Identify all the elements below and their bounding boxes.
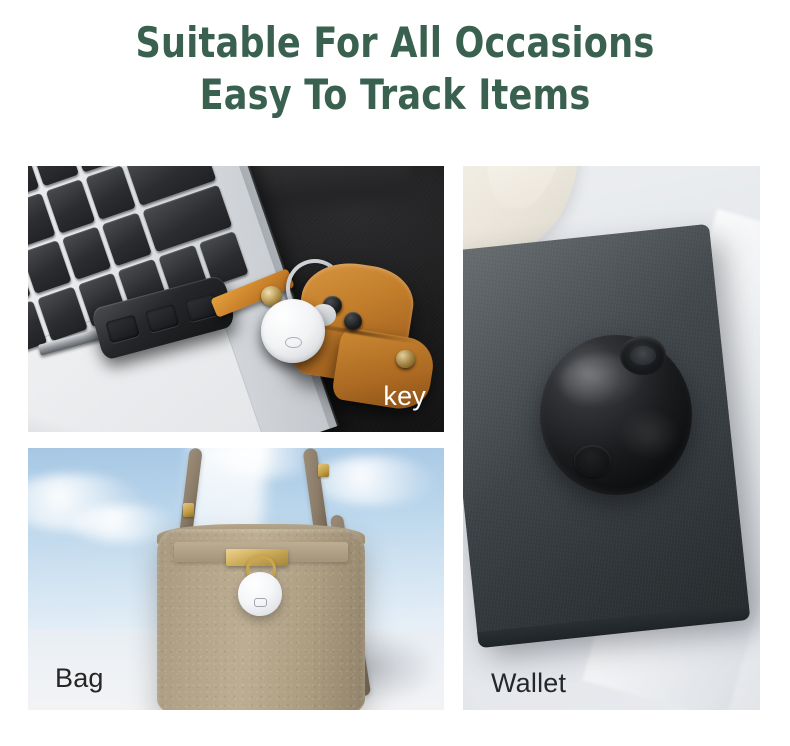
white-tracker-tag xyxy=(238,572,282,615)
promo-banner: Suitable For All Occasions Easy To Track… xyxy=(0,0,790,746)
headline-line-1: Suitable For All Occasions xyxy=(28,22,763,64)
bag-strap-buckle xyxy=(183,503,194,517)
gallery-left-column: key xyxy=(28,166,444,710)
photo-bag[interactable]: Bag xyxy=(28,448,444,710)
page-title: Suitable For All Occasions Easy To Track… xyxy=(0,22,790,116)
photo-vignette xyxy=(28,166,444,432)
cloud xyxy=(311,456,436,505)
gallery-right-column: Wallet xyxy=(463,166,760,710)
photo-wallet[interactable]: Wallet xyxy=(463,166,760,710)
photo-vignette xyxy=(463,166,760,710)
headline-line-2: Easy To Track Items xyxy=(28,74,763,116)
photo-key[interactable]: key xyxy=(28,166,444,432)
bag-strap-buckle xyxy=(318,464,329,478)
photo-gallery: key xyxy=(28,166,760,710)
